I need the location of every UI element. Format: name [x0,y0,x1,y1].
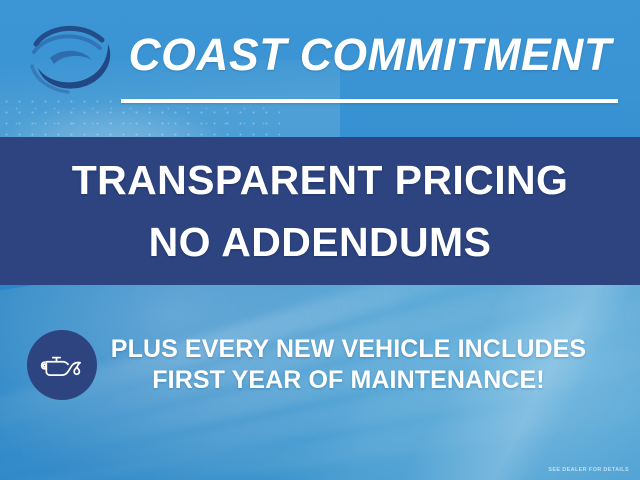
promo-text: PLUS EVERY NEW VEHICLE INCLUDES FIRST YE… [97,334,592,396]
page-title: COAST COMMITMENT [121,24,620,86]
highlight-line-2: NO ADDENDUMS [149,213,492,271]
promo-row: PLUS EVERY NEW VEHICLE INCLUDES FIRST YE… [0,318,592,412]
coast-commitment-banner: COAST COMMITMENT TRANSPARENT PRICING NO … [0,0,640,480]
disclaimer-text: SEE DEALER FOR DETAILS [548,466,629,474]
highlight-band: TRANSPARENT PRICING NO ADDENDUMS [0,137,640,285]
highlight-line-1: TRANSPARENT PRICING [72,151,569,209]
oil-can-icon [27,330,97,400]
promo-line-2: FIRST YEAR OF MAINTENANCE! [105,365,592,396]
wave-swirl-logo-icon [20,14,120,102]
promo-line-1: PLUS EVERY NEW VEHICLE INCLUDES [105,334,592,365]
header-divider [121,99,618,103]
